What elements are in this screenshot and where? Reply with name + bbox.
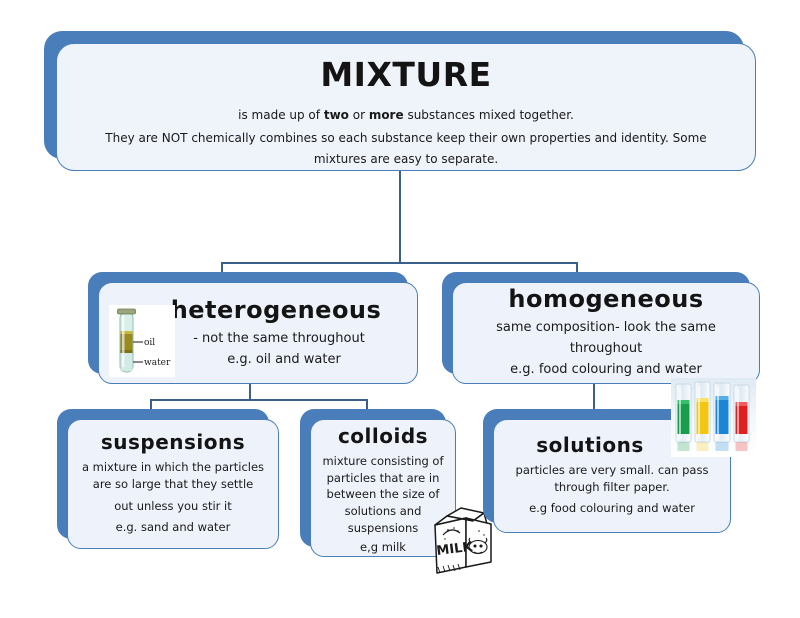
connector-root-split — [221, 262, 578, 264]
node-mixture[interactable]: MIXTURE is made up of two or more substa… — [44, 31, 756, 171]
mixture-line1-bold-more: more — [369, 108, 404, 122]
node-colloids-title: colloids — [338, 426, 428, 447]
node-suspensions-line-1: a mixture in which the particles — [72, 459, 274, 476]
node-suspensions[interactable]: suspensions a mixture in which the parti… — [57, 409, 279, 549]
node-solutions-title: solutions — [536, 435, 644, 456]
node-solutions-line-1: particles are very small. can pass — [506, 462, 719, 479]
node-heterogeneous-title: heterogeneous — [171, 298, 382, 323]
node-mixture-title: MIXTURE — [320, 58, 491, 93]
node-colloids-line-5: suspensions — [344, 520, 422, 537]
node-suspensions-line-3: out unless you stir it — [104, 498, 242, 515]
node-mixture-line-1: is made up of two or more substances mix… — [216, 105, 596, 126]
node-mixture-line-3: mixtures are easy to separate. — [292, 149, 520, 170]
node-colloids-line-1: mixture consisting of — [318, 453, 447, 470]
node-homogeneous-title: homogeneous — [508, 287, 703, 312]
node-colloids-line-6: e,g milk — [356, 539, 410, 556]
node-solutions-line-3: e.g food colouring and water — [519, 500, 705, 517]
node-heterogeneous-line-2: e.g. oil and water — [217, 350, 351, 371]
node-heterogeneous-card: oil water heterogeneous - not the same t… — [98, 282, 418, 384]
concept-map-canvas: MIXTURE is made up of two or more substa… — [0, 0, 800, 618]
node-colloids-line-2: particles that are in — [323, 470, 444, 487]
mixture-line1-bold-two: two — [324, 108, 349, 122]
node-heterogeneous[interactable]: oil water heterogeneous - not the same t… — [88, 272, 418, 384]
node-colloids-line-4: solutions and — [341, 503, 426, 520]
mixture-line1-suffix: substances mixed together. — [404, 108, 574, 122]
node-suspensions-line-4: e.g. sand and water — [106, 519, 241, 536]
mixture-line1-mid: or — [349, 108, 369, 122]
node-heterogeneous-line-1: - not the same throughout — [183, 329, 375, 350]
mixture-line1-prefix: is made up of — [238, 108, 324, 122]
node-mixture-card: MIXTURE is made up of two or more substa… — [56, 43, 756, 171]
connector-to-solutions — [593, 382, 595, 410]
svg-text:water: water — [144, 358, 171, 368]
node-suspensions-title: suspensions — [101, 432, 245, 453]
node-suspensions-line-2: are so large that they settle — [83, 476, 263, 493]
connector-heterogeneous-stem — [249, 382, 251, 400]
node-solutions-line-2: through filter paper. — [544, 479, 679, 496]
coloured-solutions-test-tubes-photo — [671, 378, 756, 457]
node-homogeneous[interactable]: homogeneous same composition- look the s… — [442, 272, 760, 384]
node-suspensions-card: suspensions a mixture in which the parti… — [67, 419, 279, 549]
node-mixture-line-2: They are NOT chemically combines so each… — [83, 128, 728, 149]
svg-text:oil: oil — [144, 338, 155, 348]
connector-root-stem — [399, 168, 401, 263]
node-homogeneous-line-1: same composition- look the same througho… — [453, 318, 759, 360]
oil-water-test-tube-clipart: oil water — [109, 305, 175, 377]
connector-heterogeneous-split — [150, 399, 368, 401]
node-homogeneous-card: homogeneous same composition- look the s… — [452, 282, 760, 384]
